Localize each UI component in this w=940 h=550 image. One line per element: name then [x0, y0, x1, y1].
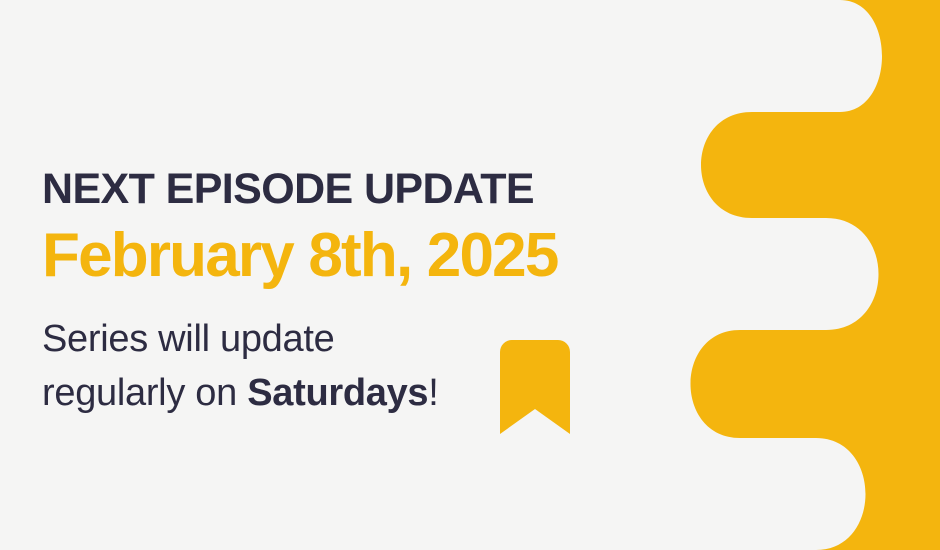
subtitle-line-2-suffix: ! [428, 372, 438, 414]
bookmark-icon [500, 340, 570, 434]
subtitle-line-1: Series will update [42, 313, 502, 367]
banner-content: NEXT EPISODE UPDATE February 8th, 2025 S… [42, 168, 742, 421]
subtitle-text: Series will update regularly on Saturday… [42, 313, 502, 421]
eyebrow-heading: NEXT EPISODE UPDATE [42, 168, 742, 211]
episode-date: February 8th, 2025 [42, 225, 742, 287]
next-episode-update-banner: NEXT EPISODE UPDATE February 8th, 2025 S… [0, 0, 940, 550]
bookmark-shape-path [500, 340, 570, 434]
subtitle-line-2-emphasis: Saturdays [247, 372, 428, 414]
subtitle-line-2: regularly on Saturdays! [42, 367, 502, 421]
subtitle-line-2-prefix: regularly on [42, 372, 247, 414]
subtitle-block: Series will update regularly on Saturday… [42, 313, 742, 421]
